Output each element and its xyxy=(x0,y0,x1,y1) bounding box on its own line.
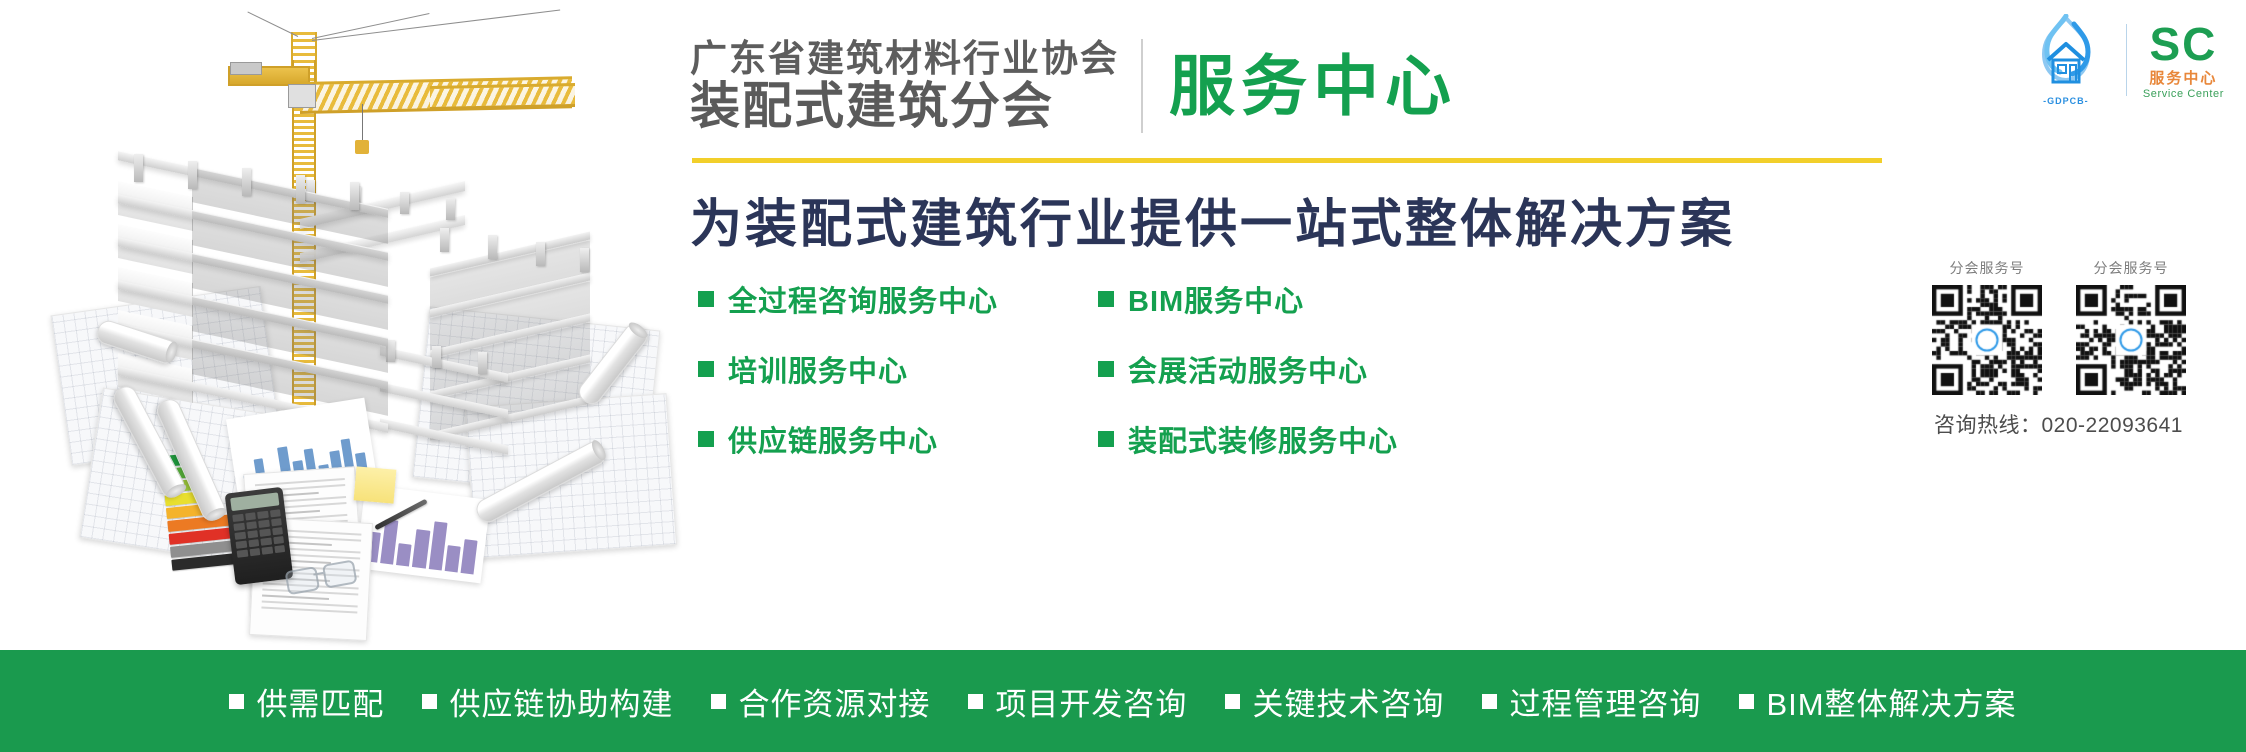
branch-name: 装配式建筑分会 xyxy=(690,79,1119,134)
footer-item[interactable]: BIM整体解决方案 xyxy=(1739,679,2016,724)
gdpcb-abbreviation: -GDPCB- xyxy=(2022,96,2110,106)
service-label: 供应链服务中心 xyxy=(728,418,938,460)
service-label: 培训服务中心 xyxy=(728,348,908,390)
service-item[interactable]: BIM服务中心 xyxy=(1098,278,1518,320)
qr-code-image[interactable] xyxy=(1932,285,2042,395)
calculator-keys xyxy=(232,509,285,558)
square-bullet-icon xyxy=(698,361,714,377)
calculator-screen xyxy=(230,492,279,511)
service-item[interactable]: 供应链服务中心 xyxy=(698,418,1098,460)
qr-caption: 分会服务号 xyxy=(2072,258,2190,278)
square-bullet-icon xyxy=(1225,694,1240,709)
footer-item[interactable]: 供需匹配 xyxy=(229,679,384,724)
square-bullet-icon xyxy=(1482,694,1497,709)
chart-bars xyxy=(364,509,480,574)
service-item[interactable]: 装配式装修服务中心 xyxy=(1098,418,1518,460)
footer-label: 关键技术咨询 xyxy=(1252,679,1444,724)
sticky-note xyxy=(354,466,397,503)
sc-english-label: Service Center xyxy=(2143,89,2224,100)
footer-label: 供应链协助构建 xyxy=(449,679,673,724)
house-flame-icon xyxy=(2022,14,2110,92)
qr-area: 分会服务号 分会服务号 咨询热线：020-22093641 xyxy=(1928,258,2228,439)
gdpcb-logo: -GDPCB- xyxy=(2022,14,2110,106)
square-bullet-icon xyxy=(698,431,714,447)
logo-group: -GDPCB- SC 服务中心 Service Center xyxy=(2022,14,2224,106)
crane-operator-cab xyxy=(288,84,316,108)
qr-code-image[interactable] xyxy=(2076,285,2186,395)
footer-item[interactable]: 关键技术咨询 xyxy=(1225,679,1444,724)
square-bullet-icon xyxy=(422,694,437,709)
service-column-left: 全过程咨询服务中心 培训服务中心 供应链服务中心 xyxy=(698,278,1098,460)
square-bullet-icon xyxy=(229,694,244,709)
square-bullet-icon xyxy=(1739,694,1754,709)
footer-item[interactable]: 过程管理咨询 xyxy=(1482,679,1701,724)
square-bullet-icon xyxy=(711,694,726,709)
service-column-right: BIM服务中心 会展活动服务中心 装配式装修服务中心 xyxy=(1098,278,1518,460)
service-label: 会展活动服务中心 xyxy=(1128,348,1368,390)
service-list: 全过程咨询服务中心 培训服务中心 供应链服务中心 BIM服务中心 xyxy=(698,278,1818,460)
qr-cell: 分会服务号 xyxy=(2072,258,2190,395)
footer-label: 过程管理咨询 xyxy=(1509,679,1701,724)
heading-divider xyxy=(1141,39,1143,133)
crane-cable xyxy=(312,13,430,39)
hotline-text: 咨询热线：020-22093641 xyxy=(1928,409,2228,439)
logo-divider xyxy=(2126,24,2127,96)
heading-block: 广东省建筑材料行业协会 装配式建筑分会 服务中心 xyxy=(690,26,1800,146)
qr-row: 分会服务号 分会服务号 xyxy=(1928,258,2228,395)
square-bullet-icon xyxy=(968,694,983,709)
crane-cable xyxy=(312,10,560,41)
sc-chinese-label: 服务中心 xyxy=(2149,71,2217,86)
content-area: 广东省建筑材料行业协会 装配式建筑分会 服务中心 为装配式建筑行业提供一站式整体… xyxy=(690,0,2246,650)
square-bullet-icon xyxy=(1098,361,1114,377)
crane-cable xyxy=(247,12,298,37)
service-label: 全过程咨询服务中心 xyxy=(728,278,998,320)
footer-label: BIM整体解决方案 xyxy=(1766,679,2016,724)
footer-item[interactable]: 项目开发咨询 xyxy=(968,679,1187,724)
service-item[interactable]: 会展活动服务中心 xyxy=(1098,348,1518,390)
qr-cell: 分会服务号 xyxy=(1928,258,2046,395)
service-center-title: 服务中心 xyxy=(1169,53,1457,119)
service-label: 装配式装修服务中心 xyxy=(1128,418,1398,460)
crane-counterweight xyxy=(230,62,262,75)
banner-root: 广东省建筑材料行业协会 装配式建筑分会 服务中心 为装配式建筑行业提供一站式整体… xyxy=(0,0,2246,752)
sc-monogram: SC xyxy=(2149,21,2217,67)
qr-caption: 分会服务号 xyxy=(1928,258,2046,278)
footer-item[interactable]: 合作资源对接 xyxy=(711,679,930,724)
square-bullet-icon xyxy=(1098,291,1114,307)
service-item[interactable]: 培训服务中心 xyxy=(698,348,1098,390)
crane-jib-tip xyxy=(430,83,575,110)
square-bullet-icon xyxy=(1098,431,1114,447)
hero-construction-image xyxy=(0,0,690,650)
footer-bar: 供需匹配 供应链协助构建 合作资源对接 项目开发咨询 关键技术咨询 过程管理咨询 xyxy=(0,650,2246,752)
organization-names: 广东省建筑材料行业协会 装配式建筑分会 xyxy=(690,38,1141,134)
crane-hook xyxy=(355,140,369,154)
construction-scene xyxy=(0,0,690,650)
service-label: BIM服务中心 xyxy=(1128,278,1304,320)
association-name: 广东省建筑材料行业协会 xyxy=(690,38,1119,79)
square-bullet-icon xyxy=(698,291,714,307)
service-item[interactable]: 全过程咨询服务中心 xyxy=(698,278,1098,320)
footer-label: 项目开发咨询 xyxy=(995,679,1187,724)
footer-item[interactable]: 供应链协助构建 xyxy=(422,679,673,724)
tagline: 为装配式建筑行业提供一站式整体解决方案 xyxy=(690,182,1735,257)
footer-label: 供需匹配 xyxy=(256,679,384,724)
yellow-divider-rule xyxy=(692,158,1882,163)
footer-items: 供需匹配 供应链协助构建 合作资源对接 项目开发咨询 关键技术咨询 过程管理咨询 xyxy=(229,679,2016,724)
sc-service-center-logo: SC 服务中心 Service Center xyxy=(2143,21,2224,100)
footer-label: 合作资源对接 xyxy=(738,679,930,724)
calculator xyxy=(225,487,294,585)
crane-hook-line xyxy=(362,104,363,144)
